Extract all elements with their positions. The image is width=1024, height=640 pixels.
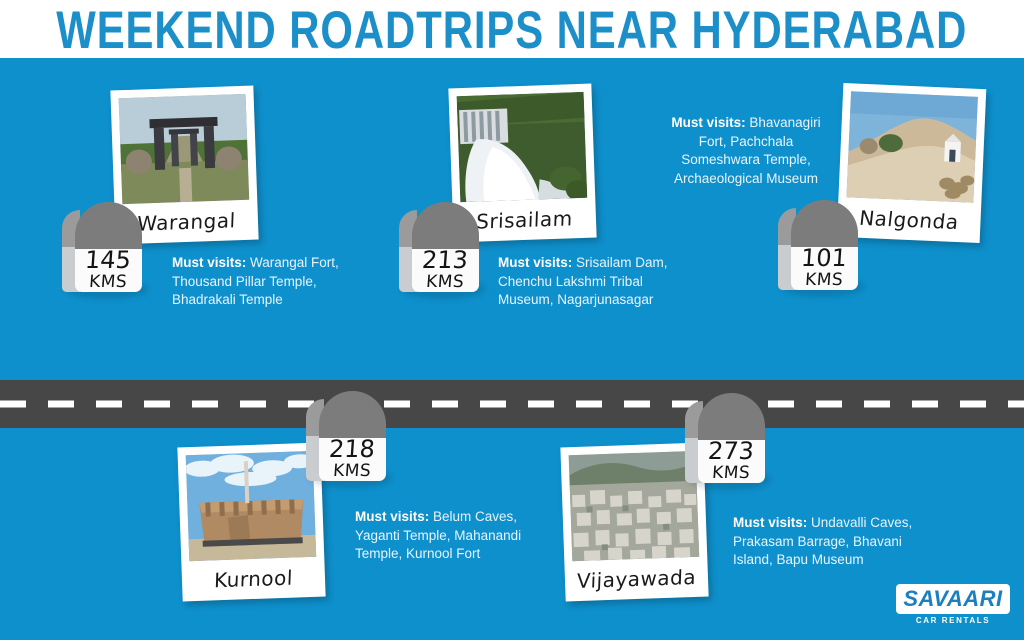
page-header: WEEKEND ROADTRIPS NEAR HYDERABAD xyxy=(0,0,1024,58)
savaari-logo[interactable]: SAVAARI CAR RENTALS xyxy=(896,584,1010,630)
milestone-vijayawada: 273 KMS xyxy=(685,393,765,483)
must-visits-kurnool: Must visits: Belum Caves, Yaganti Temple… xyxy=(355,508,530,564)
milestone-kurnool: 218 KMS xyxy=(306,391,386,481)
must-visits-label: Must visits: xyxy=(355,509,429,524)
milestone-distance-unit: KMS xyxy=(89,272,129,293)
milestone-warangal: 145 KMS xyxy=(62,202,142,292)
photo-image-warangal xyxy=(119,94,250,204)
milestone-face: 218 KMS xyxy=(319,438,386,481)
milestone-face: 145 KMS xyxy=(75,249,142,292)
milestone-distance-unit: KMS xyxy=(333,461,373,482)
milestone-face: 273 KMS xyxy=(698,440,765,483)
milestone-distance-value: 273 xyxy=(708,439,755,463)
photo-image-kurnool xyxy=(186,451,317,561)
photo-image-vijayawada xyxy=(569,451,700,561)
photo-caption-srisailam: Srisailam xyxy=(460,198,588,243)
infographic-canvas: Warangal 145 KMS Must visits: Warangal F… xyxy=(0,58,1024,640)
photo-caption-kurnool: Kurnool xyxy=(189,557,317,602)
page-title: WEEKEND ROADTRIPS NEAR HYDERABAD xyxy=(57,2,968,55)
must-visits-nalgonda: Must visits: Bhavanagiri Fort, Pachchala… xyxy=(662,114,830,188)
milestone-distance-value: 213 xyxy=(422,248,469,272)
photo-image-nalgonda xyxy=(846,91,978,202)
milestone-srisailam: 213 KMS xyxy=(399,202,479,292)
road-divider xyxy=(0,380,1024,428)
photo-caption-vijayawada: Vijayawada xyxy=(572,557,700,602)
milestone-dome xyxy=(75,202,142,252)
road-dash-markings xyxy=(0,401,1024,408)
must-visits-warangal: Must visits: Warangal Fort, Thousand Pil… xyxy=(172,254,354,310)
milestone-dome xyxy=(698,393,765,443)
milestone-distance-value: 218 xyxy=(329,437,376,461)
logo-plate: SAVAARI xyxy=(896,584,1010,614)
must-visits-label: Must visits: xyxy=(671,115,745,130)
must-visits-label: Must visits: xyxy=(733,515,807,530)
must-visits-label: Must visits: xyxy=(172,255,246,270)
photo-caption-nalgonda: Nalgonda xyxy=(843,197,974,242)
milestone-face: 101 KMS xyxy=(791,247,858,290)
milestone-dome xyxy=(319,391,386,441)
logo-wordmark: SAVAARI xyxy=(903,588,1002,610)
milestone-distance-unit: KMS xyxy=(712,463,752,484)
milestone-distance-value: 101 xyxy=(801,246,848,270)
logo-tagline: CAR RENTALS xyxy=(916,617,990,625)
milestone-nalgonda: 101 KMS xyxy=(778,200,858,290)
must-visits-vijayawada: Must visits: Undavalli Caves, Prakasam B… xyxy=(733,514,923,570)
must-visits-srisailam: Must visits: Srisailam Dam, Chenchu Laks… xyxy=(498,254,688,310)
milestone-face: 213 KMS xyxy=(412,249,479,292)
milestone-distance-value: 145 xyxy=(85,248,132,272)
milestone-distance-unit: KMS xyxy=(426,272,466,293)
photo-frame-nalgonda[interactable]: Nalgonda xyxy=(837,83,987,243)
milestone-distance-unit: KMS xyxy=(805,270,845,291)
photo-image-srisailam xyxy=(457,92,588,202)
must-visits-label: Must visits: xyxy=(498,255,572,270)
milestone-dome xyxy=(412,202,479,252)
milestone-dome xyxy=(791,200,858,250)
photo-frame-kurnool[interactable]: Kurnool xyxy=(177,443,325,602)
